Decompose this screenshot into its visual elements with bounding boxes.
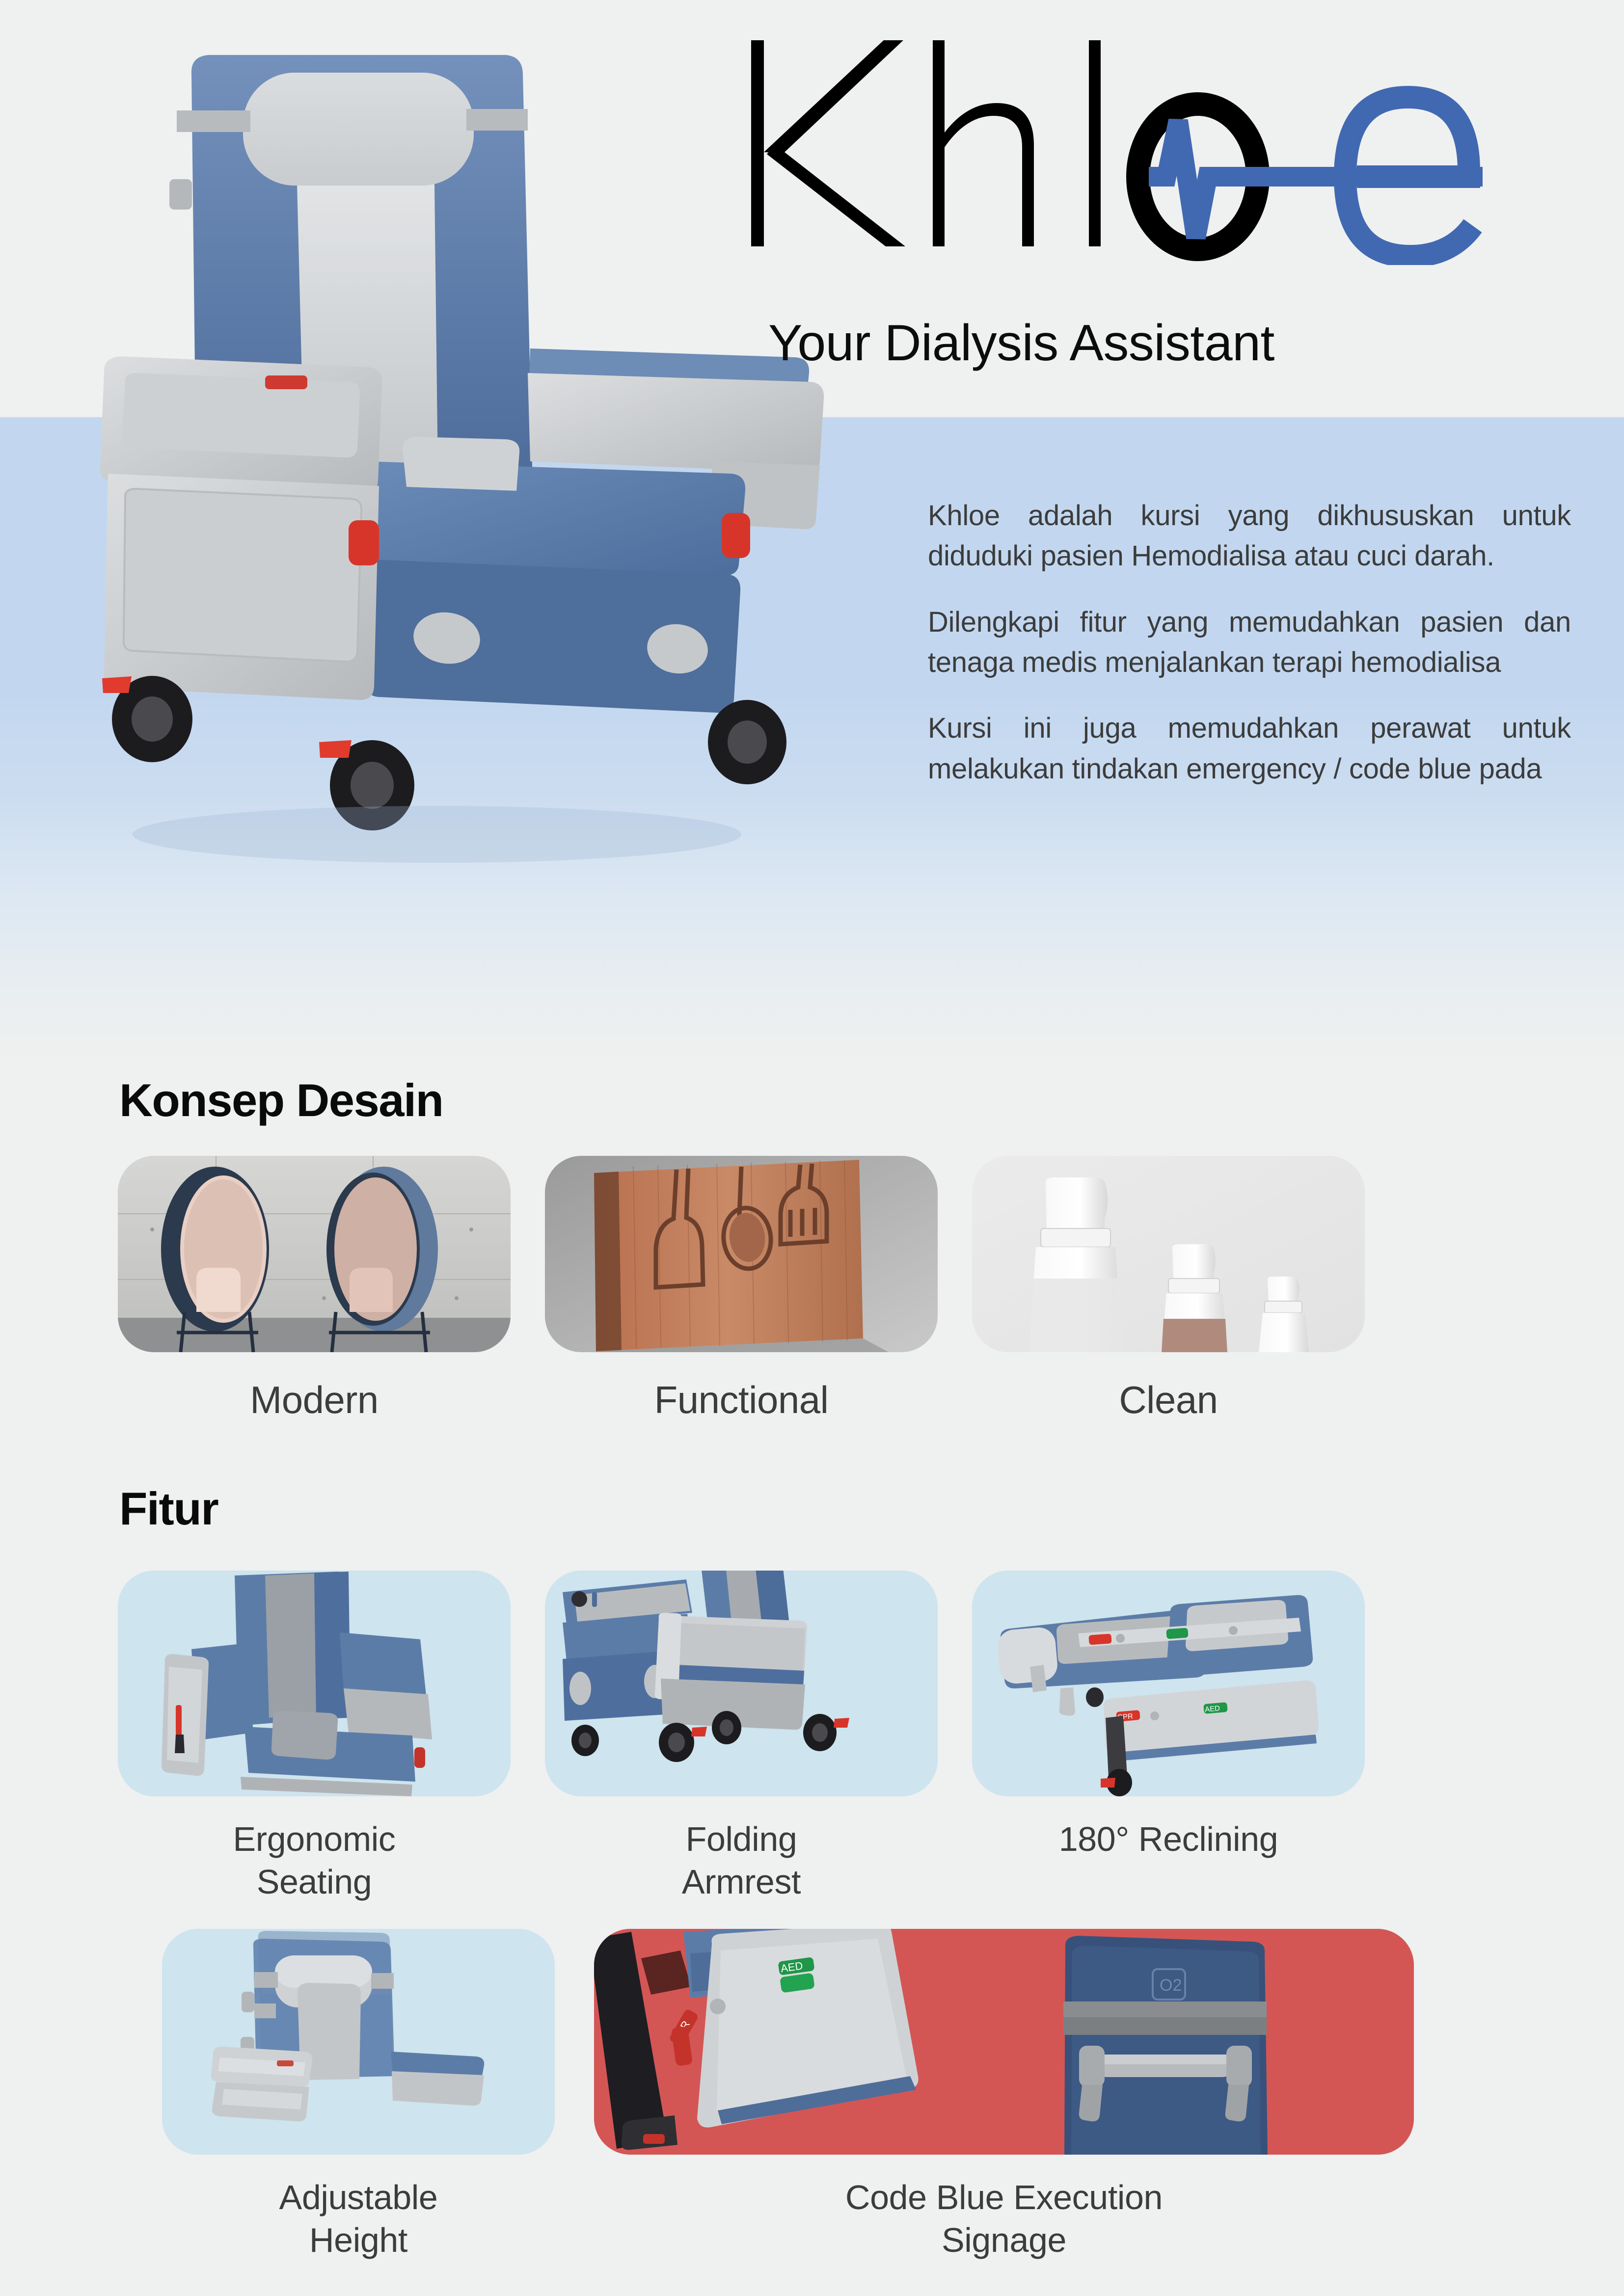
concept-label-functional: Functional [545,1378,938,1422]
feature-label-ergonomic-seating: Ergonomic Seating [118,1818,511,1903]
brand-logo-block: Your Dialysis Assistant [736,29,1571,353]
feature-label-line1: Ergonomic [233,1820,396,1858]
feature-card-code-blue-signage[interactable]: AED CPR [594,1929,1414,2262]
feature-label-line2: Armrest [682,1863,801,1901]
feature-image-ergonomic-seating [118,1571,511,1796]
concept-image-clean [972,1156,1365,1352]
description-paragraph-2: Dilengkapi fitur yang memudahkan pasien … [928,602,1571,683]
concept-label-modern: Modern [118,1378,511,1422]
feature-card-adjustable-height[interactable]: Adjustable Height [162,1929,555,2262]
feature-label-line1: Folding [686,1820,797,1858]
product-description: Khloe adalah kursi yang dikhususkan untu… [928,496,1571,789]
feature-label-line2: Seating [257,1863,372,1901]
ecg-heartbeat-icon [1149,121,1483,238]
feature-card-folding-armrest[interactable]: Folding Armrest [545,1571,938,1903]
feature-label-180-reclining: 180° Reclining [972,1818,1365,1861]
feature-card-ergonomic-seating[interactable]: Ergonomic Seating [118,1571,511,1903]
feature-image-adjustable-height [162,1929,555,2155]
o2-label-text: O2 [1160,1976,1182,1995]
concept-label-clean: Clean [972,1378,1365,1422]
concept-card-functional[interactable]: Functional [545,1156,938,1460]
feature-label-line1: Code Blue Execution [845,2178,1163,2216]
section-heading-fitur: Fitur [119,1482,218,1535]
concept-card-row: Modern [118,1156,1512,1460]
feature-image-code-blue-signage: AED CPR [594,1929,1414,2155]
feature-image-180-reclining: CPR AED [972,1571,1365,1796]
concept-image-functional [545,1156,938,1352]
section-heading-konsep-desain: Konsep Desain [119,1074,443,1127]
concept-card-modern[interactable]: Modern [118,1156,511,1460]
brand-tagline: Your Dialysis Assistant [768,314,1274,373]
concept-image-modern [118,1156,511,1352]
feature-label-line1: Adjustable [279,2178,438,2216]
feature-label-folding-armrest: Folding Armrest [545,1818,938,1903]
aed-label-text: AED [1204,1704,1220,1714]
feature-label-adjustable-height: Adjustable Height [162,2176,555,2262]
feature-label-line2: Signage [942,2221,1066,2259]
feature-card-row-1: Ergonomic Seating [118,1571,1512,1903]
khloe-wordmark [736,29,1551,265]
feature-label-code-blue-signage: Code Blue Execution Signage [594,2176,1414,2262]
concept-card-clean[interactable]: Clean [972,1156,1365,1460]
description-paragraph-1: Khloe adalah kursi yang dikhususkan untu… [928,496,1571,577]
feature-label-line2: Height [309,2221,407,2259]
description-paragraph-3: Kursi ini juga memudahkan perawat untuk … [928,708,1571,789]
feature-card-row-2: Adjustable Height [118,1929,1512,2262]
feature-image-folding-armrest [545,1571,938,1796]
feature-card-180-reclining[interactable]: CPR AED 180° Reclining [972,1571,1365,1903]
